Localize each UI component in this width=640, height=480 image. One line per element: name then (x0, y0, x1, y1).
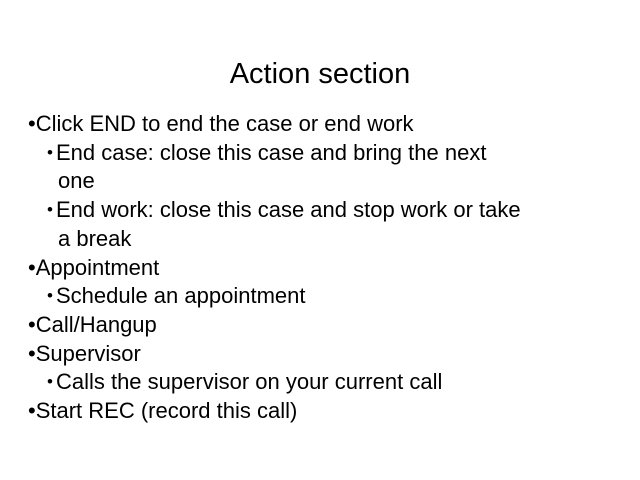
bullet-dot-icon: • (28, 311, 36, 340)
bullet-item-level2: •End work: close this case and stop work… (28, 196, 614, 225)
bullet-text: Start REC (record this call) (36, 398, 298, 423)
bullet-text: Appointment (36, 255, 160, 280)
bullet-text: Calls the supervisor on your current cal… (56, 369, 442, 394)
bullet-item-level2: •Calls the supervisor on your current ca… (28, 368, 614, 397)
slide-canvas: Action section •Click END to end the cas… (0, 0, 640, 480)
bullet-dot-icon: • (28, 397, 36, 426)
bullet-item-level2: •End case: close this case and bring the… (28, 139, 614, 168)
slide-body-text: •Click END to end the case or end work•E… (28, 110, 614, 426)
bullet-item-level1: •Appointment (28, 254, 614, 283)
bullet-item-level1: •Start REC (record this call) (28, 397, 614, 426)
bullet-item-level2: •Schedule an appointment (28, 282, 614, 311)
bullet-text: End case: close this case and bring the … (56, 140, 486, 165)
bullet-text: Call/Hangup (36, 312, 157, 337)
bullet-item-level1: •Call/Hangup (28, 311, 614, 340)
bullet-dot-icon: • (47, 196, 53, 225)
bullet-dot-icon: • (28, 340, 36, 369)
bullet-text: a break (58, 226, 131, 251)
bullet-item-level1: •Click END to end the case or end work (28, 110, 614, 139)
slide-title: Action section (40, 57, 600, 91)
bullet-dot-icon: • (47, 282, 53, 311)
bullet-continuation-line: one (28, 167, 614, 196)
bullet-text: Supervisor (36, 341, 141, 366)
bullet-text: Schedule an appointment (56, 283, 306, 308)
bullet-item-level1: •Supervisor (28, 340, 614, 369)
bullet-text: End work: close this case and stop work … (56, 197, 521, 222)
bullet-dot-icon: • (28, 254, 36, 283)
bullet-text: one (58, 168, 95, 193)
bullet-dot-icon: • (47, 139, 53, 168)
bullet-continuation-line: a break (28, 225, 614, 254)
bullet-text: Click END to end the case or end work (36, 111, 414, 136)
bullet-dot-icon: • (28, 110, 36, 139)
bullet-dot-icon: • (47, 368, 53, 397)
